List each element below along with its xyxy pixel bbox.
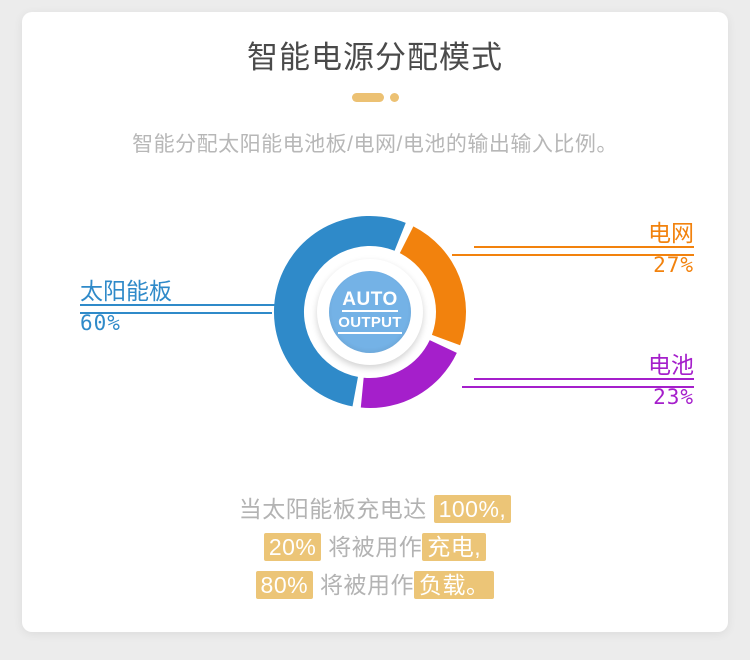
callout-battery-label: 电池	[474, 352, 694, 378]
footer-note-line-1: 当太阳能板充电达 100%,	[22, 490, 728, 528]
callout-grid-rule	[474, 246, 694, 248]
donut-chart-area: AUTO OUTPUT 太阳能板 60% 电网 27% 电池 23%	[22, 202, 728, 452]
page-title: 智能电源分配模式	[22, 32, 728, 77]
power-distribution-card: 智能电源分配模式 智能分配太阳能电池板/电网/电池的输出输入比例。 AUTO	[22, 12, 728, 632]
callout-grid: 电网 27%	[474, 220, 694, 277]
callout-solar-value: 60%	[80, 311, 280, 335]
footer-note-line2-middle: 将被用作	[321, 534, 422, 560]
divider-bar	[352, 93, 384, 102]
footer-note-line3-middle: 将被用作	[313, 572, 414, 598]
footer-note-line2-highlight-2: 充电,	[422, 533, 486, 561]
callout-battery-value: 23%	[474, 385, 694, 409]
callout-battery: 电池 23%	[474, 352, 694, 409]
footer-note: 当太阳能板充电达 100%, 20% 将被用作充电, 80% 将被用作负载。	[22, 490, 728, 604]
callout-solar-rule	[80, 304, 280, 306]
callout-battery-rule	[474, 378, 694, 380]
footer-note-line3-highlight-2: 负载。	[414, 571, 495, 599]
footer-note-line2-highlight-1: 20%	[264, 533, 322, 561]
callout-grid-label: 电网	[474, 220, 694, 246]
footer-note-line-2: 20% 将被用作充电,	[22, 528, 728, 566]
footer-note-line-3: 80% 将被用作负载。	[22, 566, 728, 604]
footer-note-line1-prefix: 当太阳能板充电达	[239, 496, 434, 522]
divider-dot-icon	[390, 93, 399, 102]
center-badge-line1: AUTO	[342, 290, 397, 312]
page-subtitle: 智能分配太阳能电池板/电网/电池的输出输入比例。	[22, 128, 728, 158]
center-badge: AUTO OUTPUT	[317, 259, 423, 365]
donut-chart: AUTO OUTPUT	[270, 212, 470, 412]
callout-grid-value: 27%	[474, 253, 694, 277]
title-divider	[22, 90, 728, 104]
callout-solar: 太阳能板 60%	[80, 278, 280, 335]
center-badge-inner: AUTO OUTPUT	[329, 271, 411, 353]
footer-note-line1-highlight: 100%,	[434, 495, 512, 523]
callout-solar-label: 太阳能板	[80, 278, 280, 304]
center-badge-line2: OUTPUT	[338, 315, 401, 334]
footer-note-line3-highlight-1: 80%	[256, 571, 314, 599]
